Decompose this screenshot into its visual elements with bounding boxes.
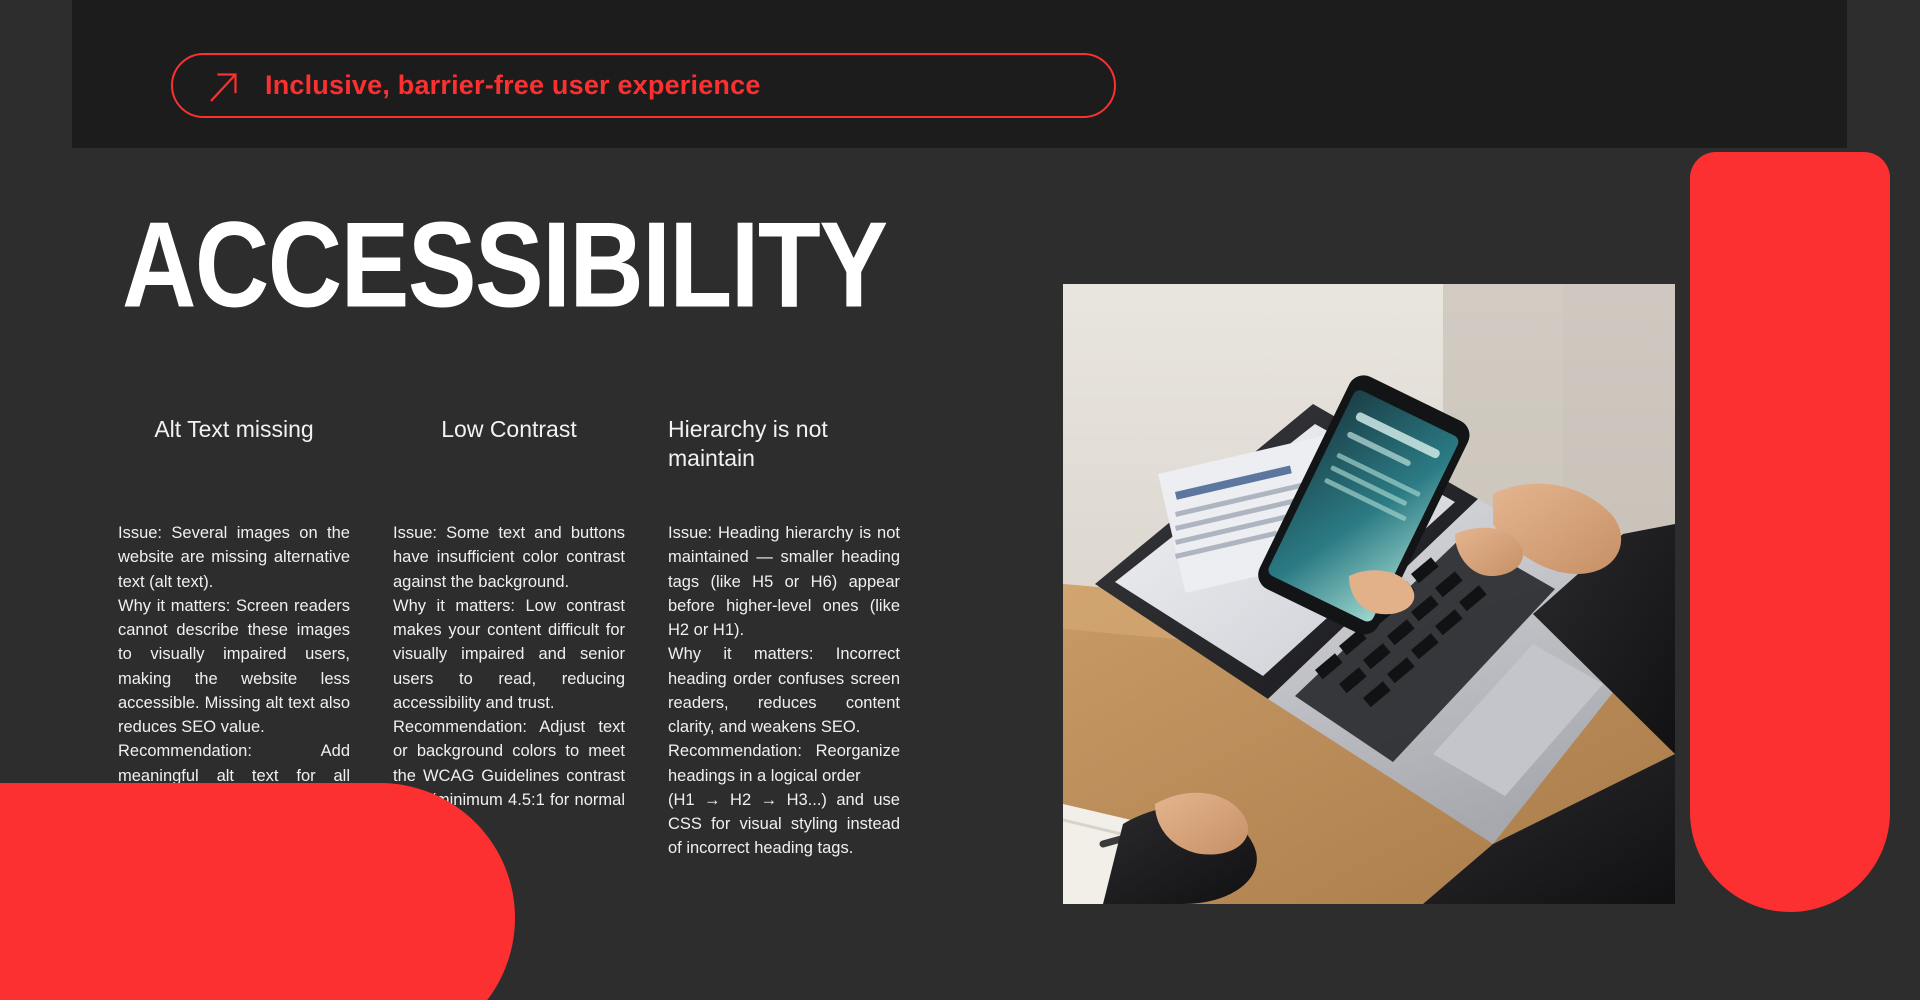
tagline-badge-label: Inclusive, barrier-free user experience bbox=[265, 70, 761, 101]
red-accent-shape-right bbox=[1690, 152, 1890, 912]
arrow-up-right-icon bbox=[201, 63, 247, 109]
laptop-phone-photo bbox=[1063, 284, 1675, 904]
photo-illustration bbox=[1063, 284, 1675, 904]
issue-heading: Low Contrast bbox=[393, 415, 625, 475]
slide-canvas: Inclusive, barrier-free user experience … bbox=[0, 0, 1920, 1000]
tagline-badge: Inclusive, barrier-free user experience bbox=[171, 53, 1116, 118]
issue-heading: Alt Text missing bbox=[118, 415, 350, 475]
issue-body: Issue: Some text and buttons have insuff… bbox=[393, 521, 625, 836]
red-accent-shape-bottom-left bbox=[0, 783, 515, 1000]
issue-heading: Hierarchy is not maintain bbox=[668, 415, 900, 475]
page-title: ACCESSIBILITY bbox=[122, 204, 887, 326]
issue-column-hierarchy: Hierarchy is not maintain Issue: Heading… bbox=[668, 415, 900, 861]
issue-body: Issue: Heading hierarchy is not maintain… bbox=[668, 521, 900, 861]
